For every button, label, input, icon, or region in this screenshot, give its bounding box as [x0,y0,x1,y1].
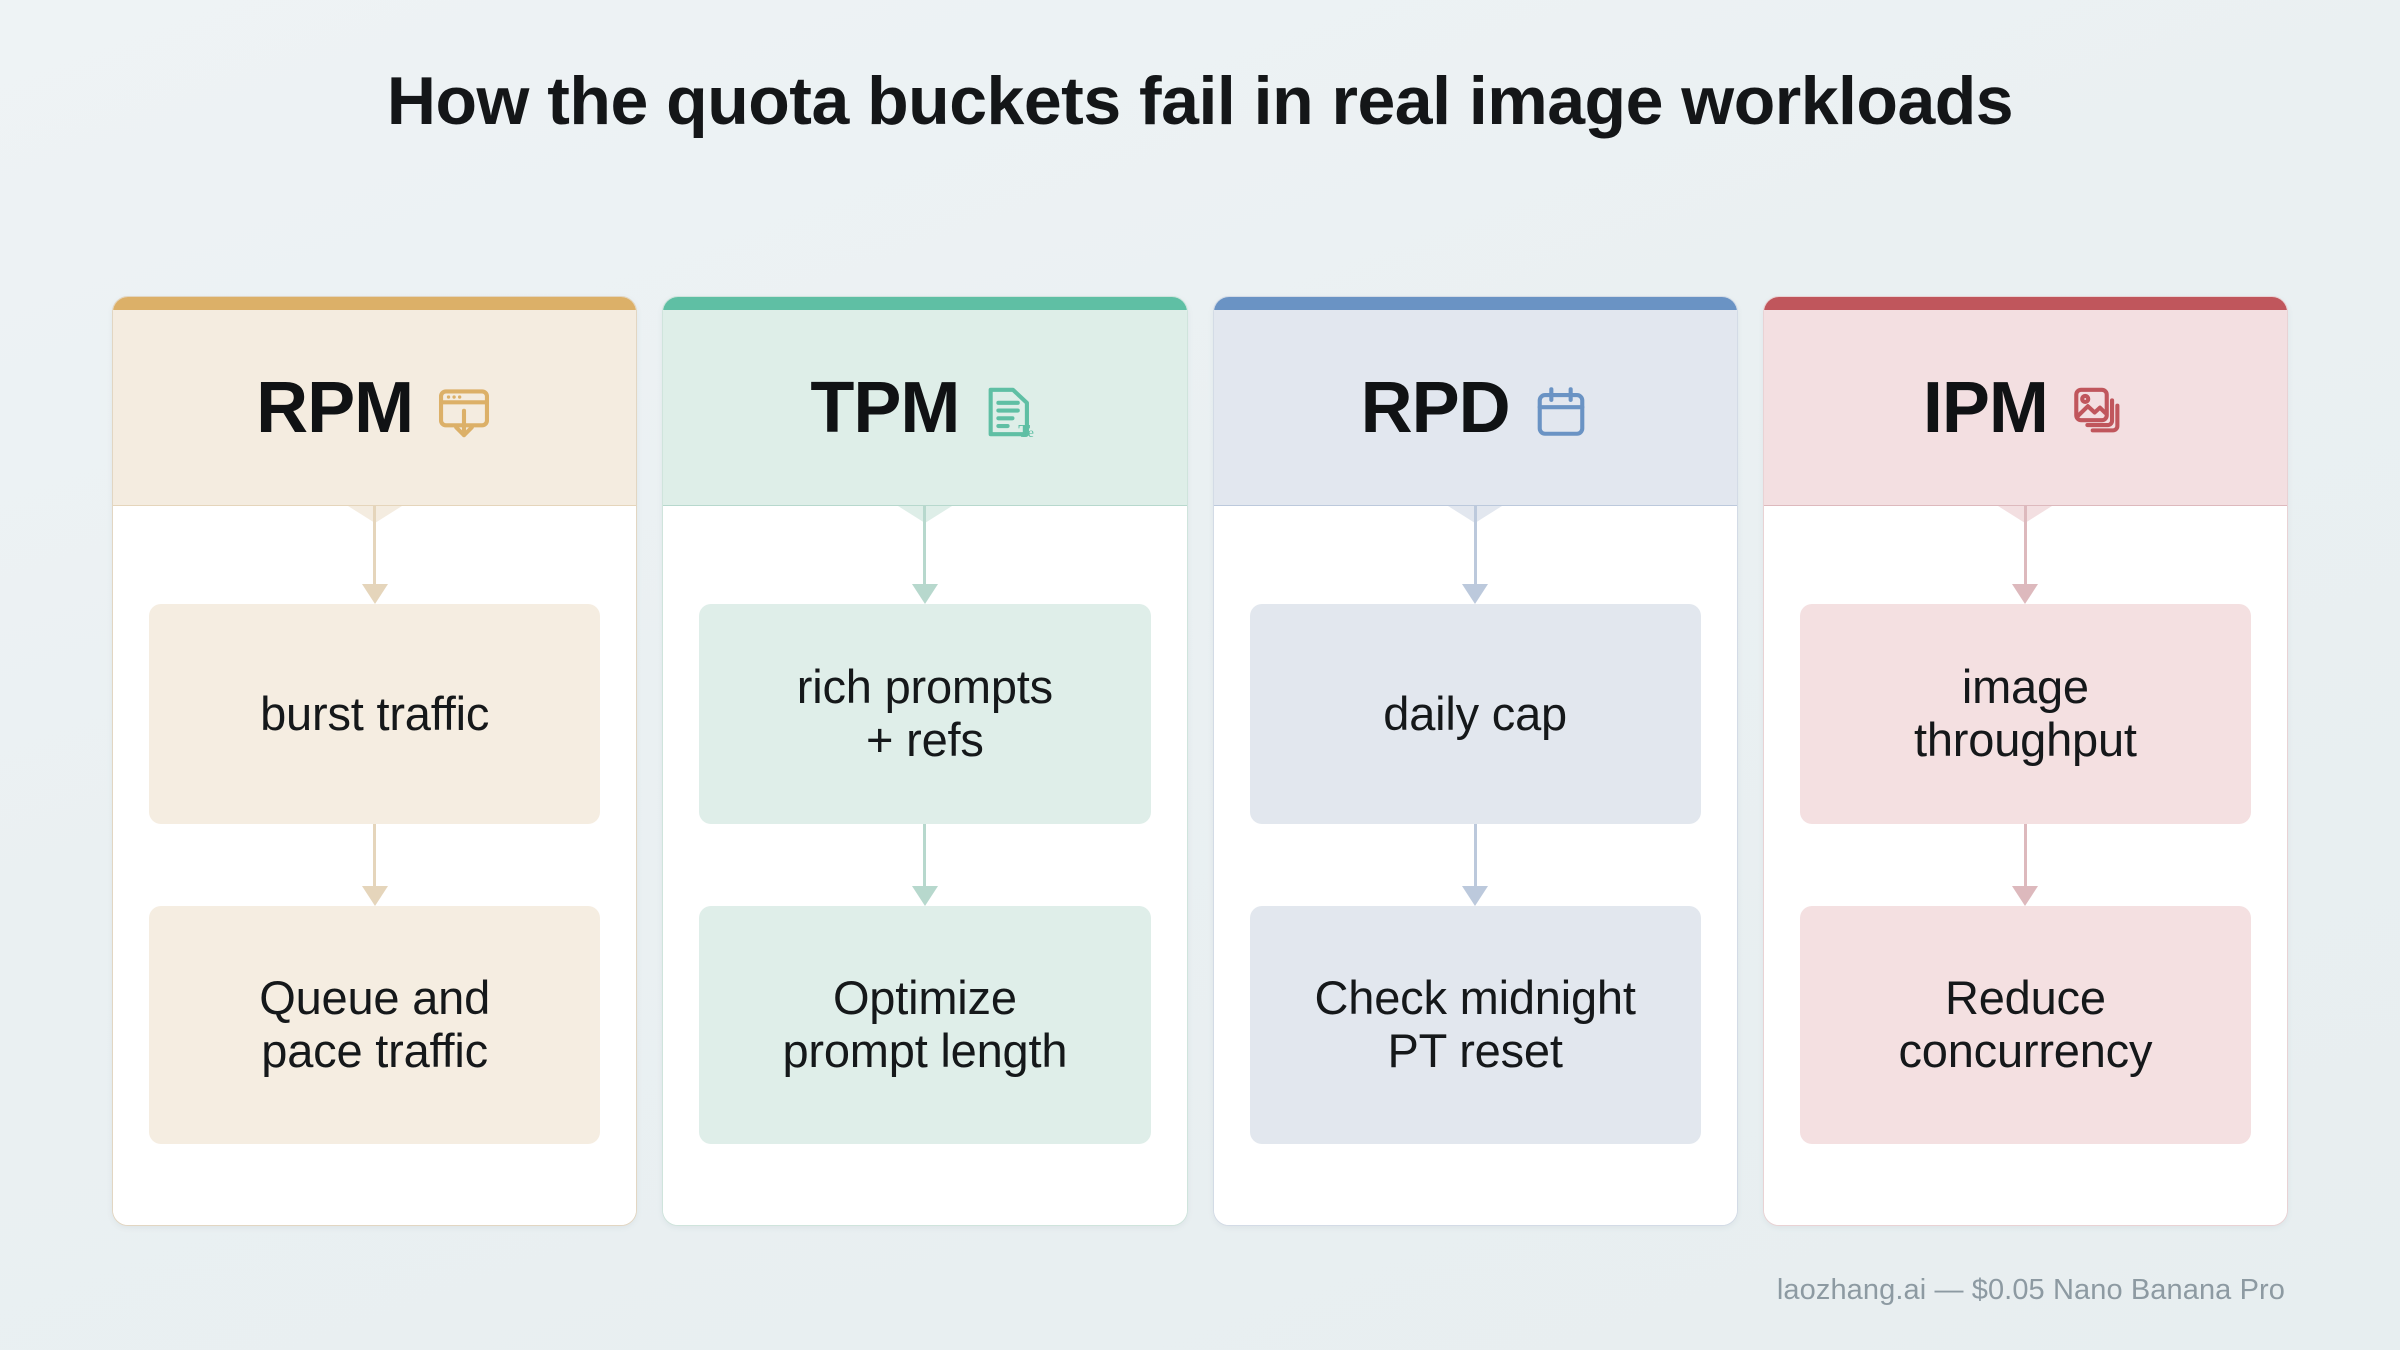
card-header: RPD [1214,310,1737,506]
cause-box: rich prompts+ refs [699,604,1150,824]
connector-arrow-to-fix [362,824,388,906]
cause-line: + refs [797,714,1053,767]
page-title: How the quota buckets fail in real image… [0,62,2400,140]
cause-box: burst traffic [149,604,600,824]
fix-text: Queue andpace traffic [259,972,490,1077]
quota-card-rpm[interactable]: RPMburst trafficQueue andpace traffic [112,296,637,1226]
arrow-stem [2024,506,2027,584]
fix-line: Queue and [259,972,490,1025]
arrow-stem [1474,824,1477,886]
arrow-stem [2024,824,2027,886]
cause-text: burst traffic [260,688,489,741]
fix-line: prompt length [782,1025,1067,1078]
infographic-page: How the quota buckets fail in real image… [0,0,2400,1350]
card-accent-bar [1214,297,1737,310]
cause-line: burst traffic [260,688,489,741]
svg-text:e: e [1028,425,1034,440]
cause-text: rich prompts+ refs [797,661,1053,766]
arrow-head [2012,584,2038,604]
card-accent-bar [663,297,1186,310]
fix-line: Check midnight [1315,972,1636,1025]
calendar-icon [1532,383,1590,441]
fix-line: Optimize [782,972,1067,1025]
cause-line: daily cap [1383,688,1567,741]
card-header: RPM [113,310,636,506]
quota-card-rpd[interactable]: RPDdaily capCheck midnightPT reset [1213,296,1738,1226]
connector-arrow-to-cause [2012,506,2038,604]
card-body: imagethroughputReduceconcurrency [1764,506,2287,1225]
fix-box: Queue andpace traffic [149,906,600,1144]
card-body: burst trafficQueue andpace traffic [113,506,636,1225]
text-document-icon: Te [981,383,1039,441]
card-accent-bar [113,297,636,310]
arrow-head [912,584,938,604]
quota-card-tpm[interactable]: TPMTerich prompts+ refsOptimizeprompt le… [662,296,1187,1226]
fix-text: Optimizeprompt length [782,972,1067,1077]
arrow-head [1462,584,1488,604]
arrow-head [362,886,388,906]
arrow-stem [923,824,926,886]
arrow-stem [373,824,376,886]
card-code-label: IPM [1923,372,2048,444]
fix-line: Reduce [1898,972,2152,1025]
arrow-stem [923,506,926,584]
footer-attribution: laozhang.ai — $0.05 Nano Banana Pro [1777,1274,2285,1307]
fix-box: Check midnightPT reset [1250,906,1701,1144]
connector-arrow-to-fix [912,824,938,906]
image-stack-icon [2070,383,2128,441]
fix-line: PT reset [1315,1025,1636,1078]
arrow-head [912,886,938,906]
arrow-head [362,584,388,604]
connector-arrow-to-cause [362,506,388,604]
cause-line: rich prompts [797,661,1053,714]
browser-download-icon [435,383,493,441]
card-header: IPM [1764,310,2287,506]
fix-box: Reduceconcurrency [1800,906,2251,1144]
card-code-label: TPM [810,372,959,444]
card-code-label: RPM [256,372,413,444]
cause-box: imagethroughput [1800,604,2251,824]
fix-text: Reduceconcurrency [1898,972,2152,1077]
card-code-label: RPD [1361,372,1510,444]
arrow-stem [1474,506,1477,584]
cause-line: throughput [1914,714,2137,767]
arrow-stem [373,506,376,584]
arrow-head [1462,886,1488,906]
card-body: daily capCheck midnightPT reset [1214,506,1737,1225]
cause-text: imagethroughput [1914,661,2137,766]
card-body: rich prompts+ refsOptimizeprompt length [663,506,1186,1225]
cause-text: daily cap [1383,688,1567,741]
fix-line: concurrency [1898,1025,2152,1078]
fix-box: Optimizeprompt length [699,906,1150,1144]
fix-text: Check midnightPT reset [1315,972,1636,1077]
card-accent-bar [1764,297,2287,310]
quota-card-row: RPMburst trafficQueue andpace trafficTPM… [112,296,2288,1226]
arrow-head [2012,886,2038,906]
connector-arrow-to-cause [912,506,938,604]
fix-line: pace traffic [259,1025,490,1078]
connector-arrow-to-fix [2012,824,2038,906]
cause-box: daily cap [1250,604,1701,824]
card-header: TPMTe [663,310,1186,506]
connector-arrow-to-fix [1462,824,1488,906]
connector-arrow-to-cause [1462,506,1488,604]
cause-line: image [1914,661,2137,714]
quota-card-ipm[interactable]: IPMimagethroughputReduceconcurrency [1763,296,2288,1226]
